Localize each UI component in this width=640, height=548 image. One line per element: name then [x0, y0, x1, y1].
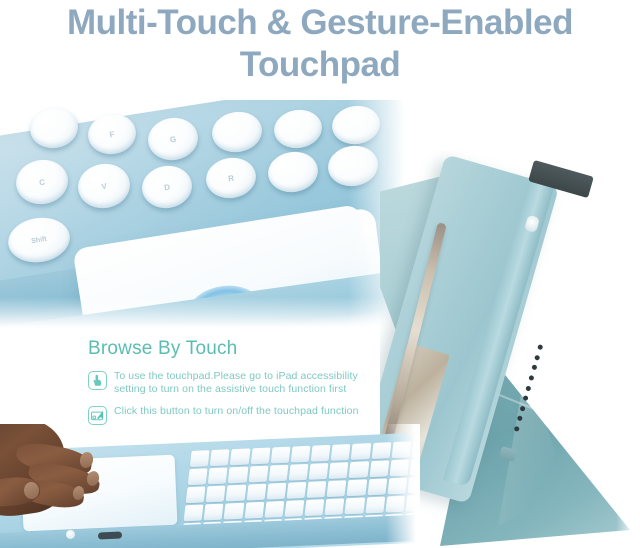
key: [204, 504, 224, 521]
key: [184, 504, 204, 521]
key: [224, 503, 244, 520]
key: [309, 463, 329, 480]
key: [210, 449, 230, 466]
speaker-hole: [522, 395, 528, 401]
keyboard-photo-fade-right: [386, 424, 420, 548]
instruction-item: Click this button to turn on/off the tou…: [88, 405, 388, 425]
key: [244, 502, 264, 519]
key: [325, 498, 345, 515]
key: [228, 467, 248, 484]
speaker-hole: [531, 364, 537, 370]
key: [284, 500, 304, 517]
speaker-hole: [534, 354, 540, 360]
photo-fade-bottom: [0, 297, 418, 333]
instruction-text: Click this button to turn on/off the tou…: [114, 405, 359, 418]
speaker-hole: [528, 375, 534, 381]
key: [188, 468, 208, 485]
key: [345, 497, 365, 514]
key: [268, 465, 288, 482]
usb-c-port: [98, 531, 122, 539]
page-title: Multi-Touch & Gesture-Enabled Touchpad: [0, 0, 640, 96]
key: [327, 480, 347, 497]
touch-hand-key-icon: [88, 371, 107, 390]
instruction-text: To use the touchpad.Please go to iPad ac…: [114, 370, 388, 396]
keyboard-touchpad-closeup-photo: F G C V D R Shift: [0, 100, 418, 333]
key: [311, 445, 331, 462]
browse-by-touch-section: Browse By Touch To use the touchpad.Plea…: [88, 338, 388, 434]
hand: [0, 424, 104, 532]
key: [190, 450, 210, 467]
hand-on-touchpad-photo: [0, 424, 420, 548]
key: [246, 484, 266, 501]
key: [347, 479, 367, 496]
key: [367, 478, 387, 495]
section-heading: Browse By Touch: [88, 338, 388, 360]
key: [206, 485, 226, 502]
key: [329, 462, 349, 479]
speaker-hole: [517, 416, 523, 422]
key: [349, 461, 369, 478]
key: [208, 467, 228, 484]
key: [270, 447, 290, 464]
touchpad-toggle-key-icon: [88, 406, 107, 425]
key: [286, 482, 306, 499]
key: [291, 446, 311, 463]
ipad-photo-fade-right: [616, 150, 640, 548]
key: [186, 486, 206, 503]
key: [250, 448, 270, 465]
key: [266, 483, 286, 500]
key: [248, 466, 268, 483]
instruction-item: To use the touchpad.Please go to iPad ac…: [88, 370, 388, 396]
key: [351, 443, 371, 460]
key: [365, 497, 385, 514]
page-title-line-2: Touchpad: [0, 44, 640, 86]
key: [226, 485, 246, 502]
key: [288, 464, 308, 481]
speaker-hole: [514, 426, 520, 432]
key: [331, 444, 351, 461]
speaker-hole: [537, 344, 543, 350]
key: [307, 481, 327, 498]
speaker-hole: [520, 405, 526, 411]
key: [305, 499, 325, 516]
page-title-line-1: Multi-Touch & Gesture-Enabled: [0, 2, 640, 44]
speaker-hole: [525, 385, 531, 391]
key: [264, 501, 284, 518]
key: [230, 448, 250, 465]
